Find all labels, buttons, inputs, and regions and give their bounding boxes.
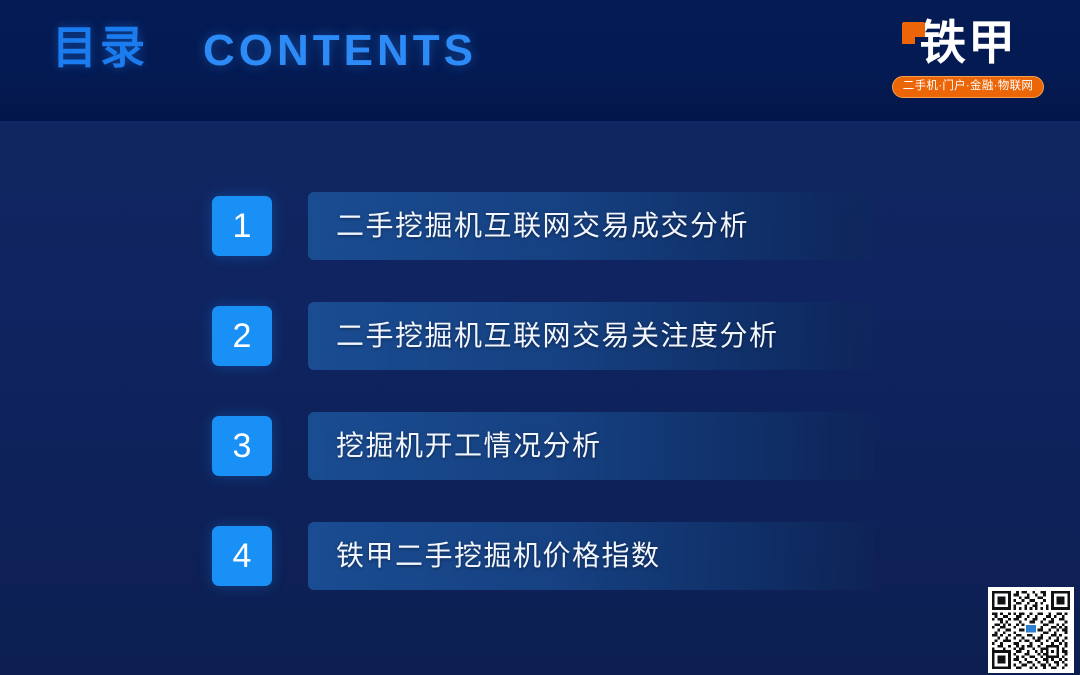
list-item[interactable]: 4 铁甲二手挖掘机价格指数 <box>0 522 1080 590</box>
list-item-number-badge: 3 <box>212 416 272 476</box>
qr-code-svg <box>992 591 1070 669</box>
list-item-number-badge: 4 <box>212 526 272 586</box>
brand-accent-stroke-icon <box>902 22 925 37</box>
list-item-bar[interactable]: 二手挖掘机互联网交易成交分析 <box>308 192 874 260</box>
list-item-bar[interactable]: 二手挖掘机互联网交易关注度分析 <box>308 302 874 370</box>
list-item[interactable]: 2 二手挖掘机互联网交易关注度分析 <box>0 302 1080 370</box>
list-item-label: 铁甲二手挖掘机价格指数 <box>336 522 661 590</box>
brand-tagline: 二手机·门户·金融·物联网 <box>892 76 1044 98</box>
brand-wordmark-text: 铁甲 <box>919 16 1017 69</box>
list-item-label: 二手挖掘机互联网交易成交分析 <box>336 192 749 260</box>
slide-header: 目录 CONTENTS 铁甲 二手机·门户·金融·物联网 <box>0 0 1080 123</box>
list-item-label: 二手挖掘机互联网交易关注度分析 <box>336 302 779 370</box>
list-item-bar[interactable]: 挖掘机开工情况分析 <box>308 412 874 480</box>
list-item[interactable]: 3 挖掘机开工情况分析 <box>0 412 1080 480</box>
qr-code-icon[interactable] <box>988 587 1074 673</box>
brand-logo: 铁甲 二手机·门户·金融·物联网 <box>888 12 1048 108</box>
brand-wordmark: 铁甲 <box>888 12 1048 74</box>
list-item-number-badge: 2 <box>212 306 272 366</box>
slide-root: 目录 CONTENTS 铁甲 二手机·门户·金融·物联网 1 二手挖掘机互联网交… <box>0 0 1080 675</box>
contents-list: 1 二手挖掘机互联网交易成交分析 2 二手挖掘机互联网交易关注度分析 3 挖掘机… <box>0 192 1080 632</box>
list-item-bar[interactable]: 铁甲二手挖掘机价格指数 <box>308 522 874 590</box>
list-item[interactable]: 1 二手挖掘机互联网交易成交分析 <box>0 192 1080 260</box>
page-title-zh: 目录 <box>52 21 148 75</box>
list-item-number-badge: 1 <box>212 196 272 256</box>
page-title-en: CONTENTS <box>203 24 477 78</box>
list-item-label: 挖掘机开工情况分析 <box>336 412 602 480</box>
